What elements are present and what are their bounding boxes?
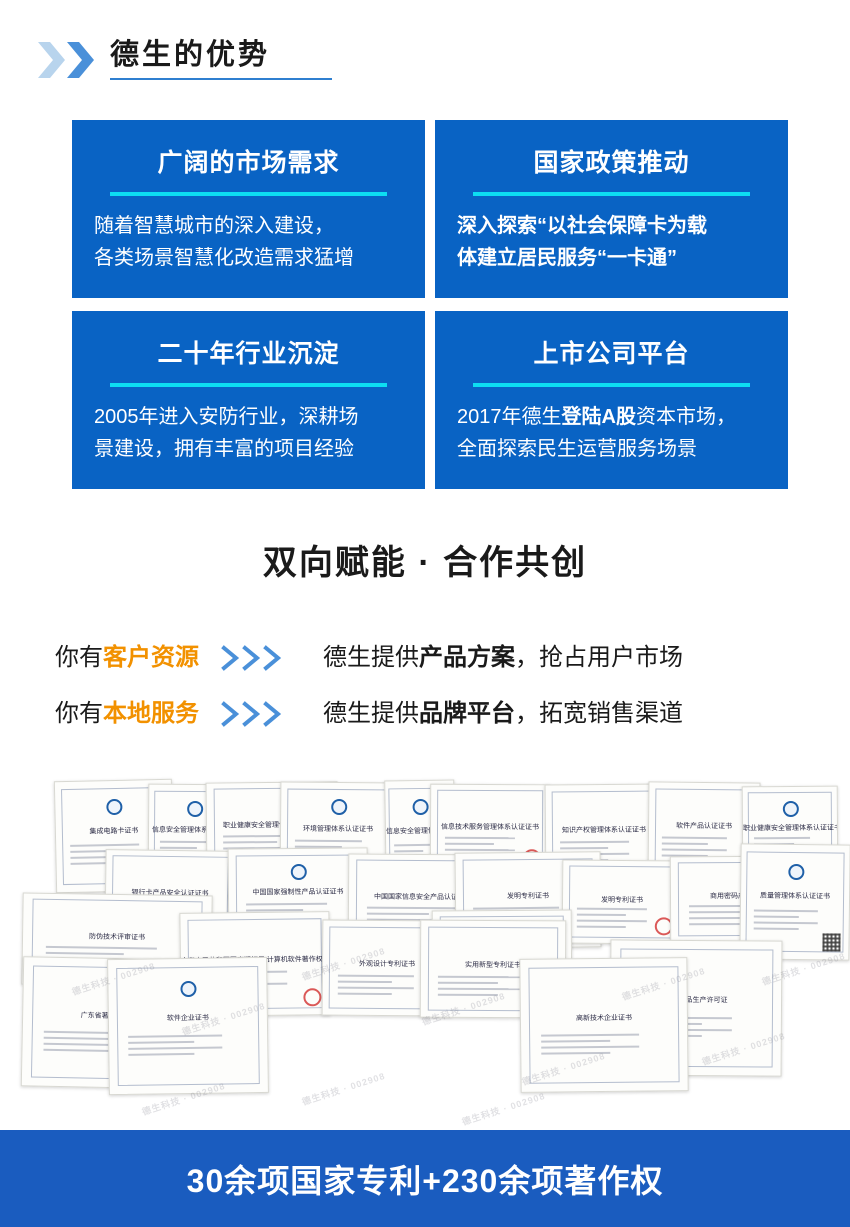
certificate-title: 职业健康安全管理体系认证证书 xyxy=(743,823,837,834)
card-divider xyxy=(110,383,387,387)
chevron-right-icon xyxy=(263,645,283,671)
card-body-line-2: 体建立居民服务“一卡通” xyxy=(457,242,766,274)
certificate-title: 中国国家强制性产品认证证书 xyxy=(229,887,367,898)
synergy-right-text: 德生提供品牌平台，拓宽销售渠道 xyxy=(323,697,683,731)
chevron-right-dark-icon xyxy=(67,42,94,78)
synergy-right-post: ，拓宽销售渠道 xyxy=(515,700,683,727)
advantage-cards-grid: 广阔的市场需求 随着智慧城市的深入建设， 各类场景智慧化改造需求猛增 国家政策推… xyxy=(72,120,778,489)
chevron-right-light-icon xyxy=(38,42,65,78)
red-seal-icon xyxy=(303,988,321,1006)
section-header: 德生的优势 xyxy=(0,34,850,94)
advantage-card-national-policy[interactable]: 国家政策推动 深入探索“以社会保障卡为载 体建立居民服务“一卡通” xyxy=(435,120,788,298)
advantage-card-market-demand[interactable]: 广阔的市场需求 随着智慧城市的深入建设， 各类场景智慧化改造需求猛增 xyxy=(72,120,425,298)
chevron-right-icon xyxy=(242,701,262,727)
card-body-line-1: 深入探索“以社会保障卡为载 xyxy=(457,210,766,242)
synergy-left-highlight: 客户资源 xyxy=(103,644,199,671)
synergy-left-pre: 你有 xyxy=(55,644,103,671)
certificate-body-lines xyxy=(754,909,836,934)
advantage-card-twenty-years[interactable]: 二十年行业沉淀 2005年进入安防行业，深耕场 景建设，拥有丰富的项目经验 xyxy=(72,311,425,489)
tecsun-watermark: 德生科技 · 002908 xyxy=(300,1069,387,1108)
card-body-line-1: 2017年德生登陆A股资本市场， xyxy=(457,401,766,433)
certificate-title: 高新技术企业证书 xyxy=(521,1012,687,1024)
footer-patent-count: 30余项国家专利+230余项著作权 xyxy=(187,1156,664,1202)
accreditation-badge-icon xyxy=(187,801,203,817)
synergy-right-pre: 德生提供 xyxy=(323,644,419,671)
chevron-right-icon xyxy=(221,701,241,727)
card-body-line-1-post: 资本市场， xyxy=(636,406,736,428)
certificate-tile[interactable]: 高新技术企业证书 xyxy=(519,957,688,1093)
accreditation-badge-icon xyxy=(788,863,804,879)
synergy-left-text: 你有客户资源 xyxy=(55,641,199,675)
chevron-right-icon xyxy=(221,645,241,671)
synergy-left-text: 你有本地服务 xyxy=(55,697,199,731)
qr-code-icon xyxy=(822,933,840,951)
tecsun-watermark: 德生科技 · 002908 xyxy=(460,1089,547,1128)
certificate-title: 环境管理体系认证证书 xyxy=(281,823,395,834)
certificate-tile[interactable]: 发明专利证书 xyxy=(562,859,683,944)
card-title: 广阔的市场需求 xyxy=(157,146,339,180)
page-title: 德生的优势 xyxy=(110,34,332,76)
card-body-line-1-strong: 登陆A股 xyxy=(562,406,636,428)
certificate-title: 质量管理体系认证证书 xyxy=(741,891,849,902)
synergy-rows: 你有客户资源 德生提供产品方案，抢占用户市场 你有本地服务 德生提供品牌平台，拓… xyxy=(0,630,850,742)
card-body-line-1-pre: 2017年德生 xyxy=(457,406,562,428)
card-body-line-1: 2005年进入安防行业，深耕场 xyxy=(94,401,403,433)
synergy-right-post: ，抢占用户市场 xyxy=(515,644,683,671)
certificate-title: 知识产权管理体系认证证书 xyxy=(546,824,662,835)
certificate-body-lines xyxy=(577,908,667,933)
synergy-right-text: 德生提供产品方案，抢占用户市场 xyxy=(323,641,683,675)
certificate-collage: 集成电路卡证书信息安全管理体系认证证书职业健康安全管理体系认证证书环境管理体系认… xyxy=(0,762,850,1130)
header-chevrons xyxy=(38,42,94,78)
card-title: 二十年行业沉淀 xyxy=(157,337,339,371)
card-body-line-2: 景建设，拥有丰富的项目经验 xyxy=(94,433,403,465)
synergy-right-pre: 德生提供 xyxy=(323,700,419,727)
card-body-line-1: 随着智慧城市的深入建设， xyxy=(94,210,403,242)
card-body: 2017年德生登陆A股资本市场， 全面探索民生运营服务场景 xyxy=(457,401,766,465)
card-divider xyxy=(473,192,750,196)
card-body-line-2: 全面探索民生运营服务场景 xyxy=(457,433,766,465)
header-title-wrap: 德生的优势 xyxy=(110,34,332,84)
card-body: 深入探索“以社会保障卡为载 体建立居民服务“一卡通” xyxy=(457,210,766,274)
card-title: 上市公司平台 xyxy=(533,337,689,371)
certificate-body-lines xyxy=(128,1034,248,1060)
synergy-left-pre: 你有 xyxy=(55,700,103,727)
certificate-title: 发明专利证书 xyxy=(563,894,681,905)
synergy-right-bold: 品牌平台 xyxy=(419,700,515,727)
synergy-arrows xyxy=(221,645,283,671)
accreditation-badge-icon xyxy=(180,981,196,997)
synergy-row-customer-resources: 你有客户资源 德生提供产品方案，抢占用户市场 xyxy=(0,630,850,686)
synergy-right-bold: 产品方案 xyxy=(419,644,515,671)
header-underline xyxy=(110,78,332,80)
certificate-tile[interactable]: 软件企业证书 xyxy=(107,957,269,1095)
advantage-card-listed-company[interactable]: 上市公司平台 2017年德生登陆A股资本市场， 全面探索民生运营服务场景 xyxy=(435,311,788,489)
card-title: 国家政策推动 xyxy=(533,146,689,180)
certificate-frame xyxy=(529,966,680,1084)
card-divider xyxy=(110,192,387,196)
synergy-row-local-service: 你有本地服务 德生提供品牌平台，拓宽销售渠道 xyxy=(0,686,850,742)
footer-banner: 30余项国家专利+230余项著作权 xyxy=(0,1130,850,1227)
card-divider xyxy=(473,383,750,387)
card-body-line-2: 各类场景智慧化改造需求猛增 xyxy=(94,242,403,274)
card-body: 2005年进入安防行业，深耕场 景建设，拥有丰富的项目经验 xyxy=(94,401,403,465)
certificate-title: 信息技术服务管理体系认证证书 xyxy=(431,821,549,832)
synergy-arrows xyxy=(221,701,283,727)
card-body: 随着智慧城市的深入建设， 各类场景智慧化改造需求猛增 xyxy=(94,210,403,274)
advantages-page: 德生的优势 广阔的市场需求 随着智慧城市的深入建设， 各类场景智慧化改造需求猛增… xyxy=(0,0,850,1227)
accreditation-badge-icon xyxy=(412,799,428,815)
certificate-body-lines xyxy=(541,1033,667,1058)
chevron-right-icon xyxy=(263,701,283,727)
synergy-section-title: 双向赋能 · 合作共创 xyxy=(0,540,850,586)
chevron-right-icon xyxy=(242,645,262,671)
synergy-left-highlight: 本地服务 xyxy=(103,700,199,727)
accreditation-badge-icon xyxy=(106,799,122,815)
